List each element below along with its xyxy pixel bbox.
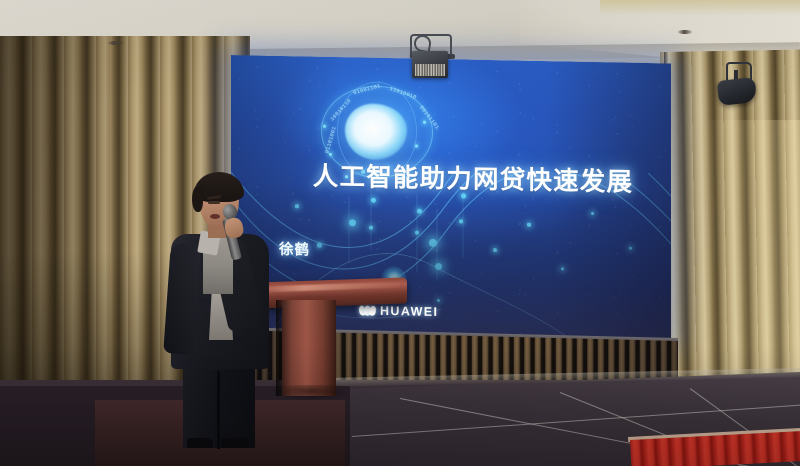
ceiling-downlight-left-icon <box>108 41 124 45</box>
huawei-wordmark: HUAWEI <box>380 304 438 319</box>
ceiling-downlight-right-icon <box>678 30 692 34</box>
ceiling-speaker-icon <box>716 62 758 106</box>
presenter-hair-side <box>192 186 203 212</box>
slide-title: 人工智能助力网贷快速发展 <box>288 155 658 199</box>
ceiling-warm-glow <box>600 0 800 16</box>
presenter-shoe-left <box>187 438 213 448</box>
presenter-figure <box>163 166 293 446</box>
presentation-photo-scene: 01101001 10010110 01001101 11010010 0010… <box>0 0 800 466</box>
huawei-logo: HUAWEI <box>359 303 438 319</box>
stage-light-icon <box>404 34 458 80</box>
huawei-petal-icon <box>359 305 376 315</box>
presenter-mouth <box>210 214 220 219</box>
presenter-shoe-right <box>221 438 249 448</box>
presenter-leg-gap <box>217 371 220 449</box>
presenter-eye <box>208 201 220 204</box>
